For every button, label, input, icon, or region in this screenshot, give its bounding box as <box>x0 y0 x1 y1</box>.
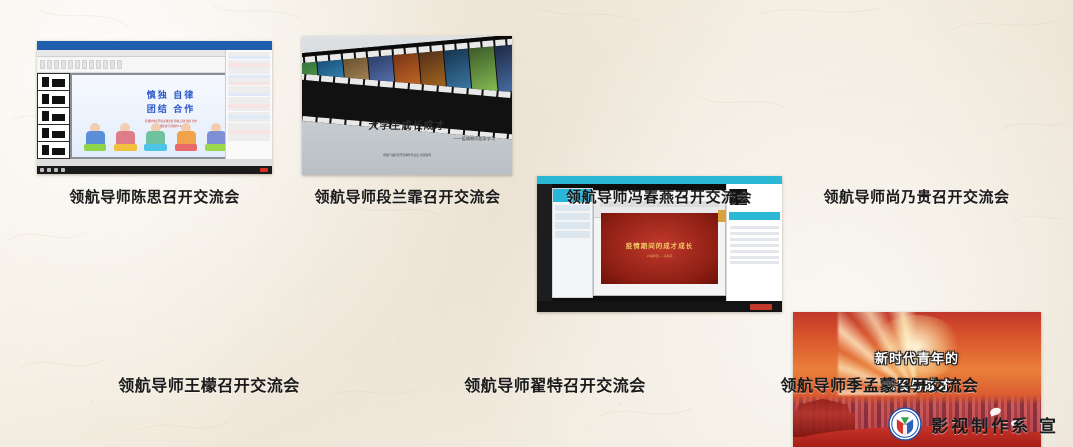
caption-shot-4: 领航导师尚乃贵召开交流会 <box>790 186 1043 207</box>
caption-shot-1: 领航导师陈思召开交流会 <box>37 186 272 207</box>
caption-shot-2: 领航导师段兰霏召开交流会 <box>295 186 520 207</box>
status-bar <box>37 159 272 166</box>
footer-brand-label: 影视制作系 宣 <box>931 412 1059 437</box>
recorder-toolbar[interactable] <box>37 166 272 174</box>
slide-title-shot-3: 疫情期间的成才成长 <box>626 240 694 250</box>
footer-brand: 影视制作系 宣 <box>888 407 1059 441</box>
caption-shot-7: 领航导师季孟蒙召开交流会 <box>752 372 1007 396</box>
window-titlebar <box>37 41 272 50</box>
meeting-topbar <box>537 176 782 184</box>
slide-footer-shot-2: 中国广播影视节目制作专业班 授课讲师 <box>302 153 512 157</box>
caption-shot-6: 领航导师翟特召开交流会 <box>430 372 680 396</box>
meeting-bottombar <box>537 301 782 312</box>
school-emblem-icon <box>888 407 922 441</box>
slide-subtitle-shot-2: ——疫情期间居家学习 <box>302 136 495 142</box>
collage-stage: 慎独 自律 团结 合作 影视制作系开展主题班会 慎独 自律 团结 合作 广播影视… <box>0 0 1073 447</box>
slide-subtitle-shot-3: 19编导班 — 冯春燕 <box>646 254 672 258</box>
slide-title-shot-2: 大学生成长成才 <box>302 117 512 132</box>
thumbnail-shot-2[interactable]: 大学生成长成才 ——疫情期间居家学习 中国广播影视节目制作专业班 授课讲师 <box>302 36 512 175</box>
shared-slide: 疫情期间的成才成长 19编导班 — 冯春燕 <box>601 213 718 284</box>
slide-title-shot-4-line1: 新时代青年的 <box>793 348 1041 367</box>
right-side-panel <box>225 50 272 166</box>
caption-shot-5: 领航导师王檬召开交流会 <box>84 372 334 396</box>
sun-glow <box>872 315 961 379</box>
powerpoint-window: 慎独 自律 团结 合作 影视制作系开展主题班会 慎独 自律 团结 合作 广播影视… <box>37 41 272 174</box>
slide-thumbnail-rail[interactable] <box>37 73 70 159</box>
caption-shot-3: 领航导师冯春燕召开交流会 <box>530 186 788 207</box>
thumbnail-shot-1[interactable]: 慎独 自律 团结 合作 影视制作系开展主题班会 慎独 自律 团结 合作 广播影视… <box>37 41 272 174</box>
